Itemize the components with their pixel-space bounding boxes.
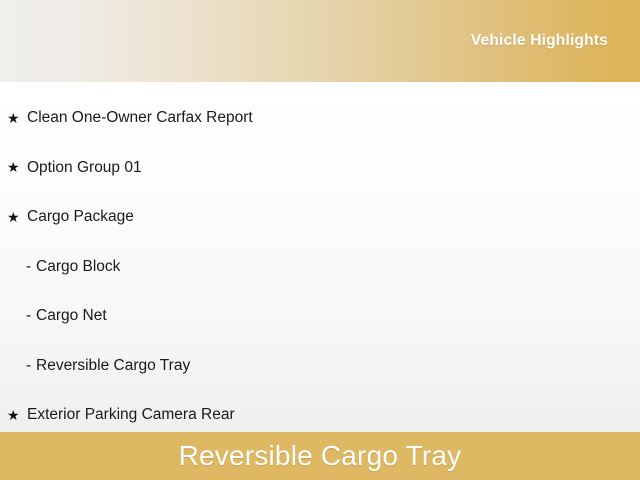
list-item-label: Cargo Net — [36, 307, 107, 324]
card-header: Vehicle Highlights — [0, 0, 640, 82]
list-item-label: Option Group 01 — [27, 159, 142, 176]
highlights-list: ★ Clean One-Owner Carfax Report ★ Option… — [0, 93, 640, 440]
list-item-label: Cargo Package — [27, 208, 134, 225]
vehicle-highlights-card: Vehicle Highlights ★ Clean One-Owner Car… — [0, 0, 640, 480]
list-item[interactable]: ★ Clean One-Owner Carfax Report — [0, 93, 640, 143]
list-item[interactable]: - Cargo Net — [0, 291, 640, 341]
list-item[interactable]: ★ Exterior Parking Camera Rear — [0, 390, 640, 440]
list-item-label: Reversible Cargo Tray — [36, 357, 190, 374]
list-item[interactable]: ★ Cargo Package — [0, 192, 640, 242]
highlights-body: ★ Clean One-Owner Carfax Report ★ Option… — [0, 82, 640, 432]
star-icon: ★ — [7, 111, 27, 125]
star-icon: ★ — [7, 408, 27, 422]
dash-icon: - — [26, 308, 36, 324]
list-item[interactable]: ★ Option Group 01 — [0, 143, 640, 193]
list-item-label: Clean One-Owner Carfax Report — [27, 109, 253, 126]
list-item-label: Cargo Block — [36, 258, 120, 275]
dash-icon: - — [26, 259, 36, 275]
list-item[interactable]: - Cargo Block — [0, 242, 640, 292]
list-item-label: Exterior Parking Camera Rear — [27, 406, 235, 423]
dash-icon: - — [26, 358, 36, 374]
page-title: Vehicle Highlights — [471, 32, 608, 50]
list-item[interactable]: - Reversible Cargo Tray — [0, 341, 640, 391]
caption-text: Reversible Cargo Tray — [179, 442, 462, 470]
star-icon: ★ — [7, 210, 27, 224]
star-icon: ★ — [7, 160, 27, 174]
